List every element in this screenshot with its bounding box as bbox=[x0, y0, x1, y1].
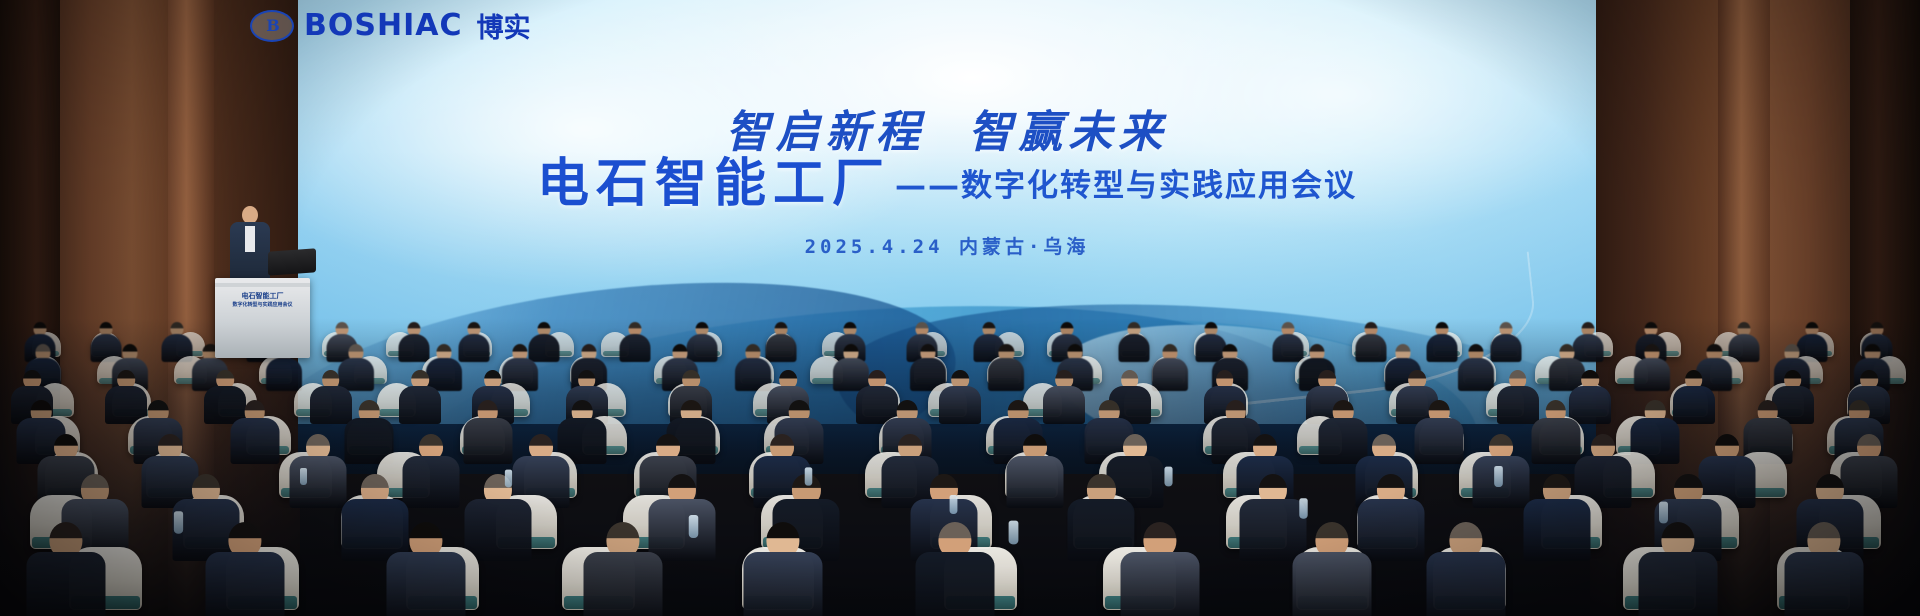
attendee-torso bbox=[27, 552, 106, 616]
attendee-torso bbox=[619, 334, 650, 363]
attendee-torso bbox=[1043, 386, 1085, 425]
attendee-torso bbox=[386, 552, 465, 616]
audience-attendee bbox=[1293, 522, 1372, 616]
audience-attendee bbox=[1415, 400, 1464, 468]
logo-chinese-text: 博实 bbox=[476, 6, 530, 45]
audience-attendee bbox=[206, 522, 285, 616]
attendee-torso bbox=[1524, 499, 1591, 561]
audience-attendee bbox=[1119, 322, 1150, 365]
audience-attendee bbox=[1524, 474, 1591, 566]
attendee-torso bbox=[1120, 552, 1199, 616]
attendee-torso bbox=[403, 456, 460, 508]
attendee-torso bbox=[1152, 358, 1188, 391]
attendee-torso bbox=[289, 456, 346, 508]
audience-attendee bbox=[386, 522, 465, 616]
audience-attendee bbox=[463, 400, 512, 468]
attendee-torso bbox=[1784, 552, 1863, 616]
attendee-torso bbox=[1415, 418, 1464, 463]
attendee-torso bbox=[458, 334, 489, 363]
water-bottle bbox=[505, 470, 512, 488]
podium-sign-line2: 数字化转型与实践应用会议 bbox=[221, 301, 304, 310]
water-bottle bbox=[1494, 466, 1503, 487]
speaker-shirt bbox=[245, 226, 255, 252]
podium-microphone-icon bbox=[268, 248, 316, 275]
screen-headline: 电石智能工厂 bbox=[537, 158, 891, 210]
attendee-torso bbox=[266, 358, 302, 391]
water-bottle bbox=[300, 468, 307, 485]
audience-attendee bbox=[1152, 344, 1188, 394]
audience-attendee bbox=[1634, 344, 1670, 394]
conference-photo: 智启新程 智赢未来 电石智能工厂 ——数字化转型与实践应用会议 2025.4.2… bbox=[0, 0, 1920, 616]
attendee-torso bbox=[1638, 552, 1717, 616]
water-bottle bbox=[1009, 521, 1019, 545]
audience-attendee bbox=[27, 522, 106, 616]
audience-attendee bbox=[403, 434, 460, 513]
audience-attendee bbox=[619, 322, 650, 365]
audience-attendee bbox=[399, 370, 441, 428]
screen-headline-row: 电石智能工厂 ——数字化转型与实践应用会议 bbox=[298, 158, 1596, 210]
attendee-torso bbox=[465, 499, 532, 561]
attendee-torso bbox=[584, 552, 663, 616]
audience-attendee bbox=[939, 370, 981, 428]
attendee-torso bbox=[1458, 358, 1494, 391]
audience-attendee bbox=[458, 322, 489, 365]
attendee-torso bbox=[743, 552, 822, 616]
audience-attendee bbox=[289, 434, 346, 513]
screen-dateline: 2025.4.24 内蒙古·乌海 bbox=[298, 232, 1596, 259]
audience-attendee bbox=[743, 522, 822, 616]
attendee-torso bbox=[206, 552, 285, 616]
attendee-torso bbox=[1426, 552, 1505, 616]
podium-sign-line1: 电石智能工厂 bbox=[221, 292, 304, 301]
podium-sign: 电石智能工厂 数字化转型与实践应用会议 bbox=[221, 292, 304, 314]
audience-attendee bbox=[584, 522, 663, 616]
attendee-torso bbox=[1119, 334, 1150, 363]
audience-attendee bbox=[1531, 400, 1580, 468]
attendee-torso bbox=[988, 358, 1024, 391]
water-bottle bbox=[689, 515, 699, 538]
audience-attendee bbox=[1638, 522, 1717, 616]
screen-slogan: 智启新程 智赢未来 bbox=[298, 96, 1596, 160]
audience-attendee bbox=[1458, 344, 1494, 394]
attendee-torso bbox=[1634, 358, 1670, 391]
water-bottle bbox=[1299, 498, 1307, 518]
attendee-torso bbox=[1293, 552, 1372, 616]
speaker-podium: 电石智能工厂 数字化转型与实践应用会议 bbox=[215, 278, 310, 358]
water-bottle bbox=[174, 511, 183, 533]
water-bottle bbox=[805, 467, 813, 485]
attendee-torso bbox=[398, 334, 429, 363]
boshiac-logo: B BOSHIAC 博实 bbox=[250, 6, 530, 45]
podium-top-band bbox=[215, 283, 310, 287]
audience-attendee bbox=[1427, 322, 1458, 365]
logo-mark-letter: B bbox=[266, 16, 278, 35]
logo-latin-text: BOSHIAC bbox=[304, 8, 462, 43]
attendee-torso bbox=[399, 386, 441, 425]
attendee-torso bbox=[1531, 418, 1580, 463]
attendee-torso bbox=[230, 418, 279, 463]
boshiac-oval-logo-icon: B bbox=[250, 10, 294, 42]
audience-attendee bbox=[1007, 434, 1064, 513]
audience-attendee bbox=[398, 322, 429, 365]
screen-subheadline: ——数字化转型与实践应用会议 bbox=[895, 160, 1357, 210]
attendee-torso bbox=[939, 386, 981, 425]
audience-attendee bbox=[1043, 370, 1085, 428]
audience-attendee bbox=[1120, 522, 1199, 616]
attendee-torso bbox=[1355, 334, 1386, 363]
attendee-torso bbox=[1427, 334, 1458, 363]
attendee-torso bbox=[915, 552, 994, 616]
audience-attendee bbox=[1355, 322, 1386, 365]
attendee-torso bbox=[463, 418, 512, 463]
audience-attendee bbox=[1784, 522, 1863, 616]
speaker-person bbox=[228, 206, 272, 284]
audience-attendee bbox=[1426, 522, 1505, 616]
water-bottle bbox=[950, 495, 958, 514]
attendee-torso bbox=[1007, 456, 1064, 508]
water-bottle bbox=[1659, 502, 1668, 524]
attendee-torso bbox=[1490, 334, 1521, 363]
audience-area bbox=[0, 318, 1920, 616]
audience-attendee bbox=[230, 400, 279, 468]
audience-attendee bbox=[915, 522, 994, 616]
water-bottle bbox=[1164, 467, 1172, 487]
audience-attendee bbox=[988, 344, 1024, 394]
audience-attendee bbox=[1490, 322, 1521, 365]
audience-attendee bbox=[465, 474, 532, 566]
